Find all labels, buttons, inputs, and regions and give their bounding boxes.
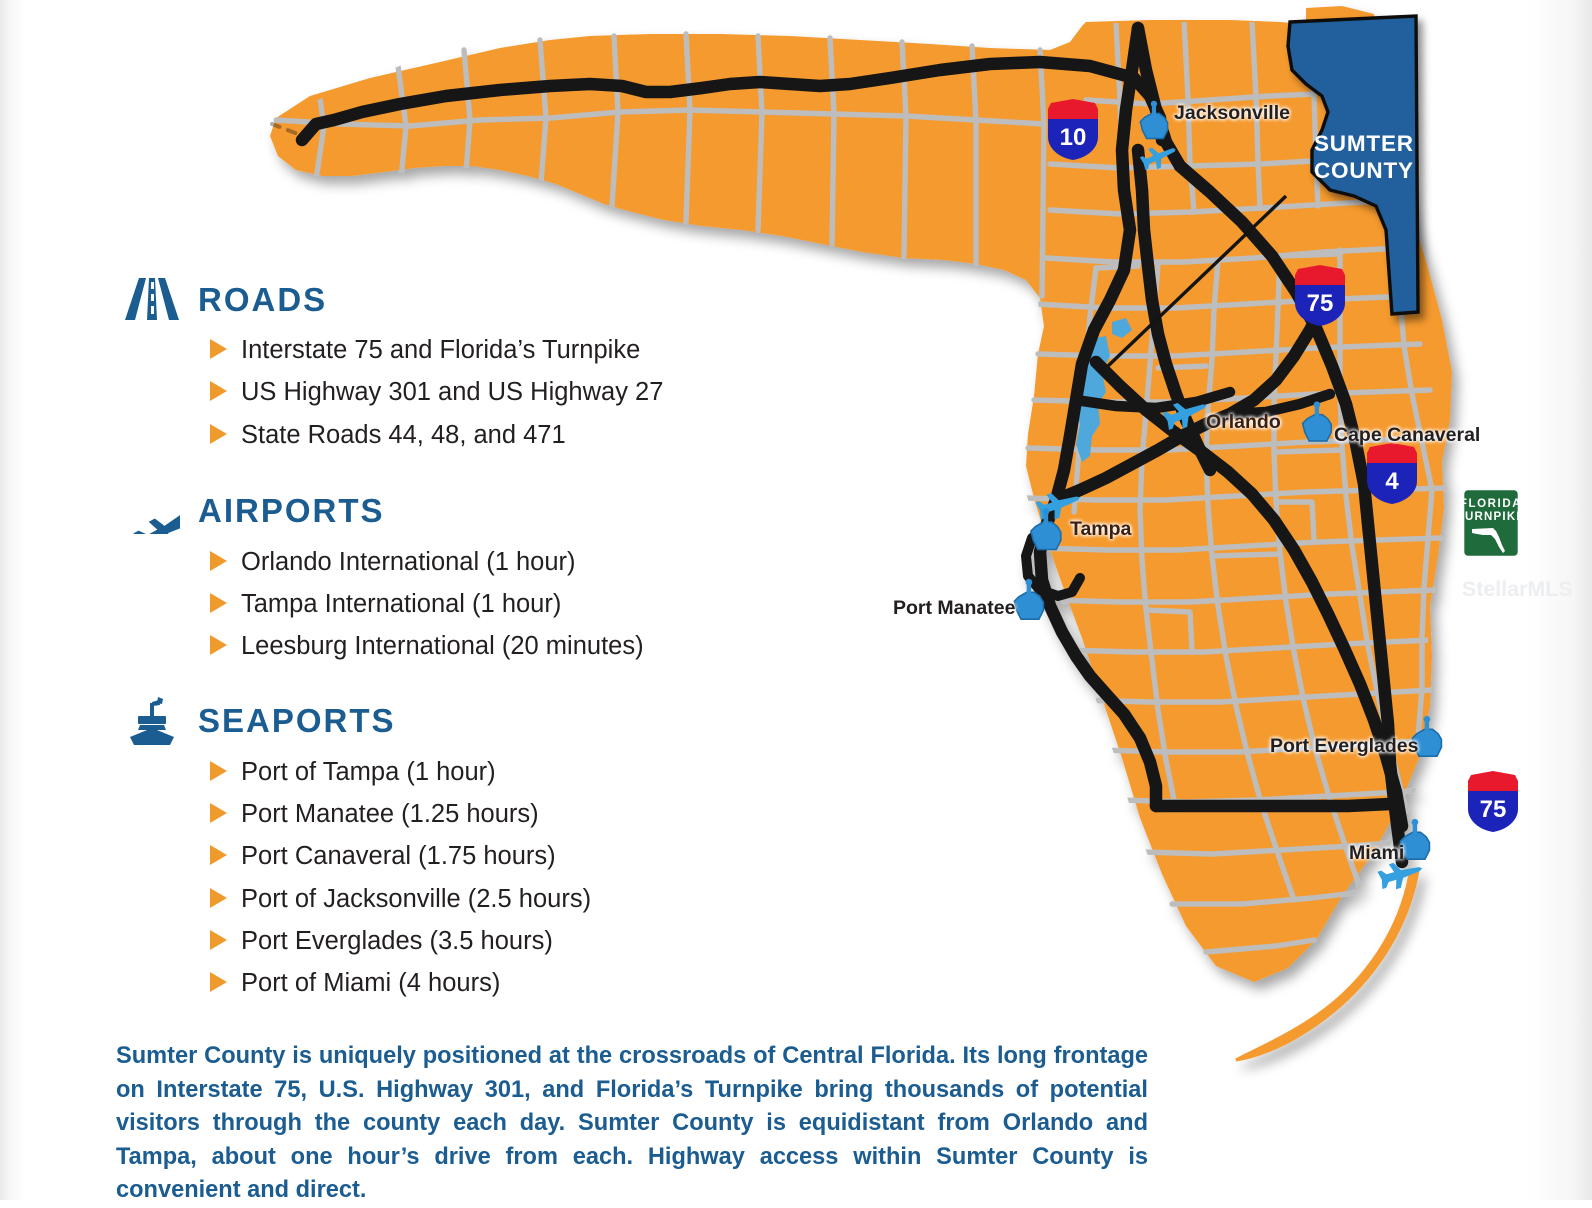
list-item: Orlando International (1 hour)	[210, 542, 824, 583]
list-item: Interstate 75 and Florida’s Turnpike	[210, 330, 824, 371]
section-airports-title: AIRPORTS	[198, 494, 385, 527]
city-label-jacksonville: Jacksonville	[1174, 102, 1290, 125]
list-item: Port Canaveral (1.75 hours)	[210, 836, 824, 877]
city-label-cape-canaveral: Cape Canaveral	[1334, 424, 1480, 447]
seaports-item-0: Port of Tampa (1 hour)	[241, 752, 496, 793]
seaports-item-5: Port of Miami (4 hours)	[241, 963, 500, 1004]
stellarmls-watermark: StellarMLS	[1462, 578, 1573, 602]
callout-line-2: COUNTY	[1314, 157, 1444, 184]
list-item: Port of Tampa (1 hour)	[210, 752, 824, 793]
seaports-item-3: Port of Jacksonville (2.5 hours)	[241, 879, 591, 920]
list-item: Leesburg International (20 minutes)	[210, 626, 824, 667]
florida-turnpike-sign: FLORIDA TURNPIKE	[1457, 489, 1525, 557]
shield-i10: 10	[1048, 99, 1098, 160]
list-item: US Highway 301 and US Highway 27	[210, 372, 824, 413]
city-label-tampa: Tampa	[1070, 518, 1131, 541]
bullet-triangle-icon	[210, 381, 227, 401]
seaports-item-1: Port Manatee (1.25 hours)	[241, 794, 539, 835]
bullet-triangle-icon	[210, 339, 227, 359]
shield-i75-north: 75	[1295, 265, 1345, 326]
section-airports: AIRPORTS Orlando International (1 hour) …	[124, 484, 824, 668]
list-item: State Roads 44, 48, and 471	[210, 415, 824, 456]
section-seaports: SEAPORTS Port of Tampa (1 hour) Port Man…	[124, 694, 824, 1005]
roads-list: Interstate 75 and Florida’s Turnpike US …	[124, 330, 824, 456]
transportation-info-panel: ROADS Interstate 75 and Florida’s Turnpi…	[124, 272, 824, 1031]
shield-i4: 4	[1367, 443, 1417, 504]
bullet-triangle-icon	[210, 972, 227, 992]
bullet-triangle-icon	[210, 803, 227, 823]
svg-text:FLORIDA: FLORIDA	[1460, 498, 1522, 510]
roads-item-2: State Roads 44, 48, and 471	[241, 415, 566, 456]
section-roads-title: ROADS	[198, 283, 327, 316]
airplane-icon	[124, 485, 180, 537]
airports-item-1: Tampa International (1 hour)	[241, 584, 561, 625]
bullet-triangle-icon	[210, 551, 227, 571]
bullet-triangle-icon	[210, 930, 227, 950]
bullet-triangle-icon	[210, 761, 227, 781]
roads-item-0: Interstate 75 and Florida’s Turnpike	[241, 330, 640, 371]
airports-item-0: Orlando International (1 hour)	[241, 542, 576, 583]
section-roads-header: ROADS	[124, 272, 824, 326]
city-label-miami: Miami	[1349, 842, 1404, 865]
bullet-triangle-icon	[210, 635, 227, 655]
svg-text:75: 75	[1307, 290, 1334, 317]
city-label-orlando: Orlando	[1206, 411, 1281, 434]
highway-i75-alley	[1156, 804, 1390, 806]
sumter-county-callout-label: SUMTER COUNTY	[1314, 130, 1444, 185]
section-roads: ROADS Interstate 75 and Florida’s Turnpi…	[124, 272, 824, 456]
list-item: Port of Miami (4 hours)	[210, 963, 824, 1004]
list-item: Tampa International (1 hour)	[210, 584, 824, 625]
road-icon	[124, 273, 180, 325]
summary-paragraph: Sumter County is uniquely positioned at …	[116, 1040, 1148, 1208]
list-item: Port of Jacksonville (2.5 hours)	[210, 879, 824, 920]
bullet-triangle-icon	[210, 845, 227, 865]
svg-text:10: 10	[1060, 124, 1087, 151]
airports-item-2: Leesburg International (20 minutes)	[241, 626, 644, 667]
seaports-item-4: Port Everglades (3.5 hours)	[241, 921, 553, 962]
city-label-port-everglades: Port Everglades	[1270, 735, 1418, 758]
list-item: Port Manatee (1.25 hours)	[210, 794, 824, 835]
svg-text:75: 75	[1480, 796, 1507, 823]
section-airports-header: AIRPORTS	[124, 484, 824, 538]
callout-line-1: SUMTER	[1314, 130, 1444, 157]
svg-text:4: 4	[1385, 468, 1399, 495]
city-label-port-manatee: Port Manatee	[893, 597, 1015, 620]
bullet-triangle-icon	[210, 888, 227, 908]
bullet-triangle-icon	[210, 593, 227, 613]
seaports-item-2: Port Canaveral (1.75 hours)	[241, 836, 556, 877]
section-seaports-title: SEAPORTS	[198, 704, 396, 737]
bullet-triangle-icon	[210, 424, 227, 444]
list-item: Port Everglades (3.5 hours)	[210, 921, 824, 962]
airports-list: Orlando International (1 hour) Tampa Int…	[124, 542, 824, 668]
shield-i75-south: 75	[1468, 771, 1518, 832]
ship-icon	[124, 695, 180, 747]
roads-item-1: US Highway 301 and US Highway 27	[241, 372, 663, 413]
svg-text:TURNPIKE: TURNPIKE	[1457, 511, 1525, 523]
section-seaports-header: SEAPORTS	[124, 694, 824, 748]
seaports-list: Port of Tampa (1 hour) Port Manatee (1.2…	[124, 752, 824, 1005]
